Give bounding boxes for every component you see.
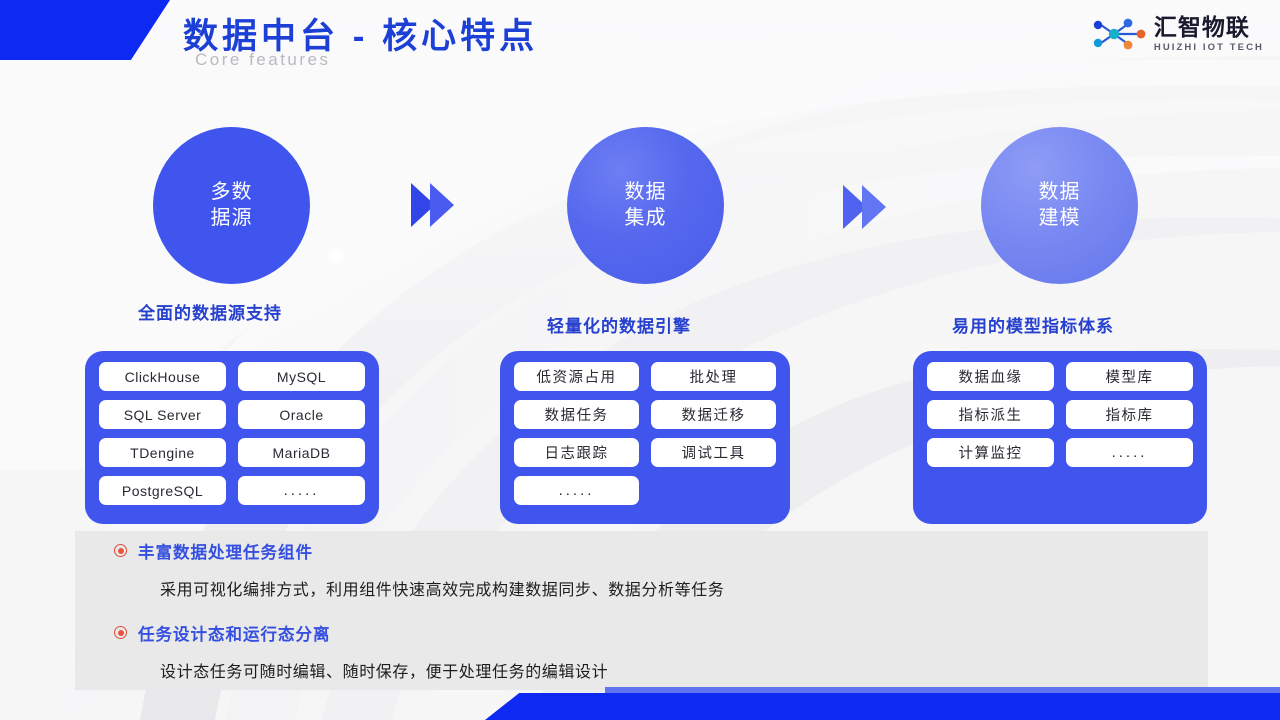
feature-description: 设计态任务可随时编辑、随时保存，便于处理任务的编辑设计: [160, 658, 608, 682]
tag-item[interactable]: .....: [238, 476, 365, 505]
tag-item[interactable]: 数据迁移: [651, 400, 776, 429]
flow-step-circle-3[interactable]: 数据 建模: [981, 127, 1138, 284]
feature-title: 任务设计态和运行态分离: [138, 621, 608, 645]
brand-logo: 汇智物联 HUIZHI IOT TECH: [1092, 14, 1264, 54]
circle-label-line2: 建模: [1039, 206, 1081, 232]
flow-step-circle-2[interactable]: 数据 集成: [567, 127, 724, 284]
circle-label-line1: 多数: [211, 180, 253, 206]
tag-item[interactable]: MariaDB: [238, 438, 365, 467]
tag-item[interactable]: 数据血缘: [927, 362, 1054, 391]
tag-item[interactable]: 数据任务: [514, 400, 639, 429]
tag-item[interactable]: PostgreSQL: [99, 476, 226, 505]
decorative-dot: [328, 249, 342, 263]
flow-arrow-2: [843, 185, 886, 229]
tag-item[interactable]: .....: [1066, 438, 1193, 467]
circle-label-line2: 据源: [211, 206, 253, 232]
tag-item[interactable]: .....: [514, 476, 639, 505]
double-triangle-right-icon: [862, 185, 886, 229]
molecule-network-icon: [1092, 14, 1148, 54]
tag-item[interactable]: 计算监控: [927, 438, 1054, 467]
page-subtitle: Core features: [195, 50, 331, 70]
tag-item[interactable]: 批处理: [651, 362, 776, 391]
circle-label-line1: 数据: [1039, 180, 1081, 206]
tag-item[interactable]: 指标派生: [927, 400, 1054, 429]
tag-panel-modeling: 数据血缘模型库指标派生指标库计算监控.....: [913, 351, 1207, 524]
logo-name-en: HUIZHI IOT TECH: [1154, 42, 1264, 53]
flow-step-caption-2: 轻量化的数据引擎: [547, 312, 691, 337]
logo-name-cn: 汇智物联: [1154, 15, 1250, 39]
tag-item[interactable]: TDengine: [99, 438, 226, 467]
tag-item[interactable]: Oracle: [238, 400, 365, 429]
double-triangle-right-icon: [430, 183, 454, 227]
bullet-dot-icon: [114, 626, 127, 639]
footer-accent-bar: [485, 693, 1280, 720]
circle-label-line1: 数据: [625, 180, 667, 206]
flow-step-circle-1[interactable]: 多数 据源: [153, 127, 310, 284]
flow-step-caption-1: 全面的数据源支持: [138, 299, 282, 324]
tag-item[interactable]: 模型库: [1066, 362, 1193, 391]
tag-item[interactable]: MySQL: [238, 362, 365, 391]
flow-arrow-1: [411, 183, 454, 227]
tag-item[interactable]: ClickHouse: [99, 362, 226, 391]
feature-item-1: 丰富数据处理任务组件 采用可视化编排方式，利用组件快速高效完成构建数据同步、数据…: [114, 539, 724, 600]
circle-label-line2: 集成: [625, 206, 667, 232]
tag-item[interactable]: 低资源占用: [514, 362, 639, 391]
feature-item-2: 任务设计态和运行态分离 设计态任务可随时编辑、随时保存，便于处理任务的编辑设计: [114, 621, 608, 682]
tag-panel-integration: 低资源占用批处理数据任务数据迁移日志跟踪调试工具.....: [500, 351, 790, 524]
tag-item[interactable]: SQL Server: [99, 400, 226, 429]
bullet-dot-icon: [114, 544, 127, 557]
flow-step-caption-3: 易用的模型指标体系: [952, 312, 1114, 337]
feature-title: 丰富数据处理任务组件: [138, 539, 724, 563]
feature-description: 采用可视化编排方式，利用组件快速高效完成构建数据同步、数据分析等任务: [160, 576, 724, 600]
tag-item[interactable]: 指标库: [1066, 400, 1193, 429]
tag-item[interactable]: 调试工具: [651, 438, 776, 467]
tag-panel-datasources: ClickHouseMySQLSQL ServerOracleTDengineM…: [85, 351, 379, 524]
slide-canvas: 数据中台 - 核心特点 Core features 汇智物联 HUIZHI IO…: [0, 0, 1280, 720]
tag-item[interactable]: 日志跟踪: [514, 438, 639, 467]
